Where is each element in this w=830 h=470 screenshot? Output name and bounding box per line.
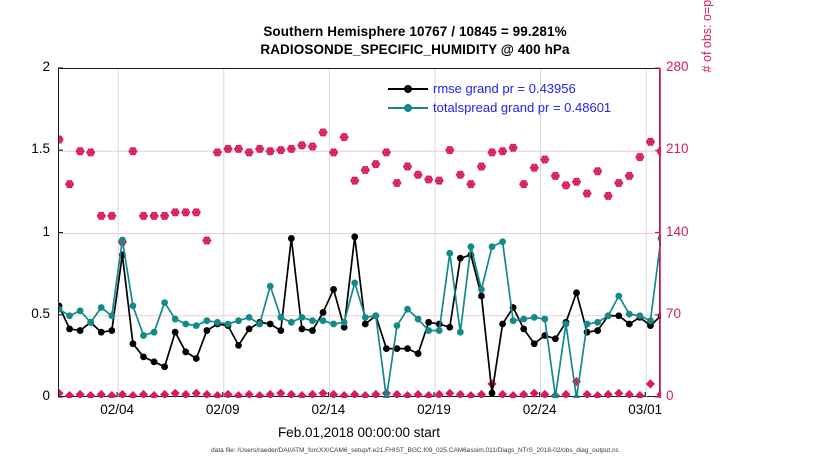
plot-canvas — [59, 69, 661, 398]
legend-item-totalspread[interactable]: totalspread grand pr = 0.48601 — [386, 98, 611, 117]
x-axis-title: Feb.01,2018 00:00:00 start — [0, 425, 718, 440]
y-axis-right-title: # of obs: o=possible; *=evaluated — [700, 0, 714, 110]
line-series — [59, 235, 661, 398]
y-tick-right-1: 70 — [666, 306, 712, 321]
legend-marker-totalspread — [386, 101, 430, 115]
y-tick-left-3: 1.5 — [18, 141, 50, 156]
chart-legend: rmse grand pr = 0.43956 totalspread gran… — [386, 79, 611, 117]
chart-svg — [59, 69, 661, 398]
obs-series — [59, 129, 661, 245]
x-tick-2: 02/14 — [293, 402, 363, 417]
x-tick-0: 02/04 — [82, 402, 152, 417]
obs-series — [59, 129, 661, 246]
chart-root: Southern Hemisphere 10767 / 10845 = 99.2… — [0, 0, 830, 470]
y-tick-left-1: 0.5 — [18, 306, 50, 321]
obs-series — [59, 377, 661, 398]
y-tick-left-2: 1 — [18, 224, 50, 239]
line-series — [59, 233, 661, 396]
y-tick-right-2: 140 — [666, 224, 712, 239]
plot-area — [58, 68, 660, 397]
y-tick-right-3: 210 — [666, 141, 712, 156]
y-tick-left-0: 0 — [18, 388, 50, 403]
legend-label-rmse: rmse grand pr = 0.43956 — [433, 81, 576, 96]
legend-label-totalspread: totalspread grand pr = 0.48601 — [433, 100, 611, 115]
data-file-footer: data file: /Users/raeder/DAI/ATM_forcXX/… — [0, 447, 830, 454]
x-tick-1: 02/09 — [188, 402, 258, 417]
x-tick-4: 02/24 — [505, 402, 575, 417]
y-tick-right-4: 280 — [666, 59, 712, 74]
legend-item-rmse[interactable]: rmse grand pr = 0.43956 — [386, 79, 611, 98]
x-tick-5: 03/01 — [610, 402, 680, 417]
y-tick-right-0: 0 — [666, 388, 712, 403]
y-tick-left-4: 2 — [18, 59, 50, 74]
x-tick-3: 02/19 — [399, 402, 469, 417]
legend-marker-rmse — [386, 82, 430, 96]
